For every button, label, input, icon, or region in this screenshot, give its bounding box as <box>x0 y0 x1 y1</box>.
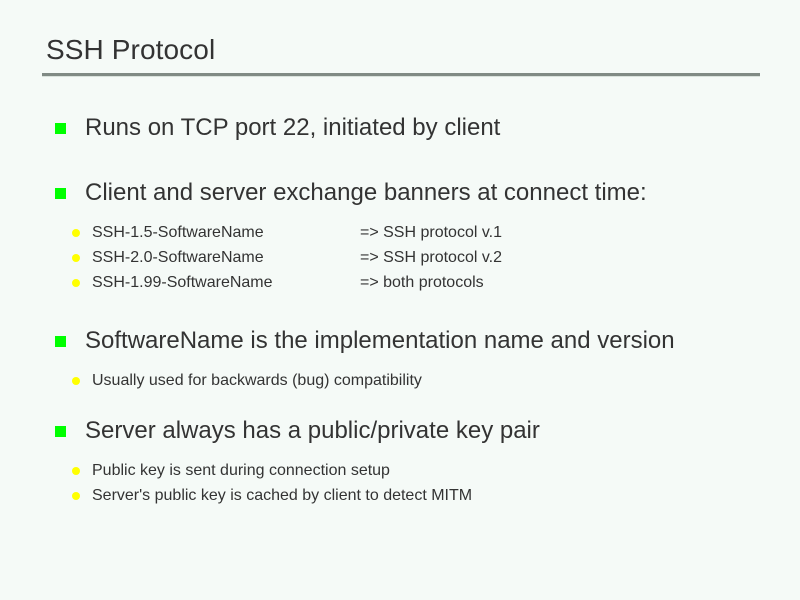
square-bullet-icon <box>55 123 66 134</box>
bullet-level2: SSH-1.5-SoftwareName=> SSH protocol v.1 <box>0 220 800 245</box>
bullet-level1: Runs on TCP port 22, initiated by client <box>0 112 800 147</box>
spacer <box>0 151 800 177</box>
bullet-level2: SSH-2.0-SoftwareName=> SSH protocol v.2 <box>0 245 800 270</box>
spacer <box>0 397 800 415</box>
bullet-level2-label: Server's public key is cached by client … <box>92 487 472 504</box>
dot-bullet-icon <box>72 279 80 287</box>
dot-bullet-icon <box>72 467 80 475</box>
bullet-level1-label: Client and server exchange banners at co… <box>85 179 647 206</box>
bullet-group: Client and server exchange banners at co… <box>0 177 800 295</box>
bullet-group: SoftwareName is the implementation name … <box>0 325 800 393</box>
bullet-level2-label: SSH-1.5-SoftwareName <box>92 220 360 245</box>
dot-bullet-icon <box>72 229 80 237</box>
title-divider <box>42 73 760 77</box>
bullet-group: Runs on TCP port 22, initiated by client <box>0 112 800 147</box>
bullet-level2-label: SSH-2.0-SoftwareName <box>92 245 360 270</box>
square-bullet-icon <box>55 426 66 437</box>
bullet-level1: Client and server exchange banners at co… <box>0 177 800 212</box>
dot-bullet-icon <box>72 377 80 385</box>
square-bullet-icon <box>55 188 66 199</box>
bullet-level2-label: Public key is sent during connection set… <box>92 462 390 479</box>
bullet-level2: Public key is sent during connection set… <box>0 458 800 483</box>
square-bullet-icon <box>55 336 66 347</box>
bullet-level1-label: SoftwareName is the implementation name … <box>85 327 675 354</box>
bullet-level2: Server's public key is cached by client … <box>0 483 800 508</box>
bullet-level1-label: Server always has a public/private key p… <box>85 417 540 444</box>
bullet-level2: Usually used for backwards (bug) compati… <box>0 368 800 393</box>
bullet-level2: SSH-1.99-SoftwareName=> both protocols <box>0 270 800 295</box>
bullet-level2-label: Usually used for backwards (bug) compati… <box>92 372 422 389</box>
spacer <box>0 212 800 220</box>
spacer <box>0 299 800 325</box>
page-title: SSH Protocol <box>42 32 760 72</box>
spacer <box>0 360 800 368</box>
presentation-slide: SSH Protocol Runs on TCP port 22, initia… <box>0 0 800 600</box>
bullet-level2-label-secondary: => SSH protocol v.2 <box>360 245 502 270</box>
slide-title-block: SSH Protocol <box>42 32 760 77</box>
bullet-level2-label: SSH-1.99-SoftwareName <box>92 270 360 295</box>
slide-body: Runs on TCP port 22, initiated by client… <box>0 112 800 512</box>
bullet-level1: SoftwareName is the implementation name … <box>0 325 800 360</box>
bullet-level2-label-secondary: => both protocols <box>360 270 484 295</box>
spacer <box>0 450 800 458</box>
bullet-group: Server always has a public/private key p… <box>0 415 800 508</box>
dot-bullet-icon <box>72 492 80 500</box>
bullet-level1-label: Runs on TCP port 22, initiated by client <box>85 114 500 141</box>
dot-bullet-icon <box>72 254 80 262</box>
bullet-level1: Server always has a public/private key p… <box>0 415 800 450</box>
bullet-level2-label-secondary: => SSH protocol v.1 <box>360 220 502 245</box>
